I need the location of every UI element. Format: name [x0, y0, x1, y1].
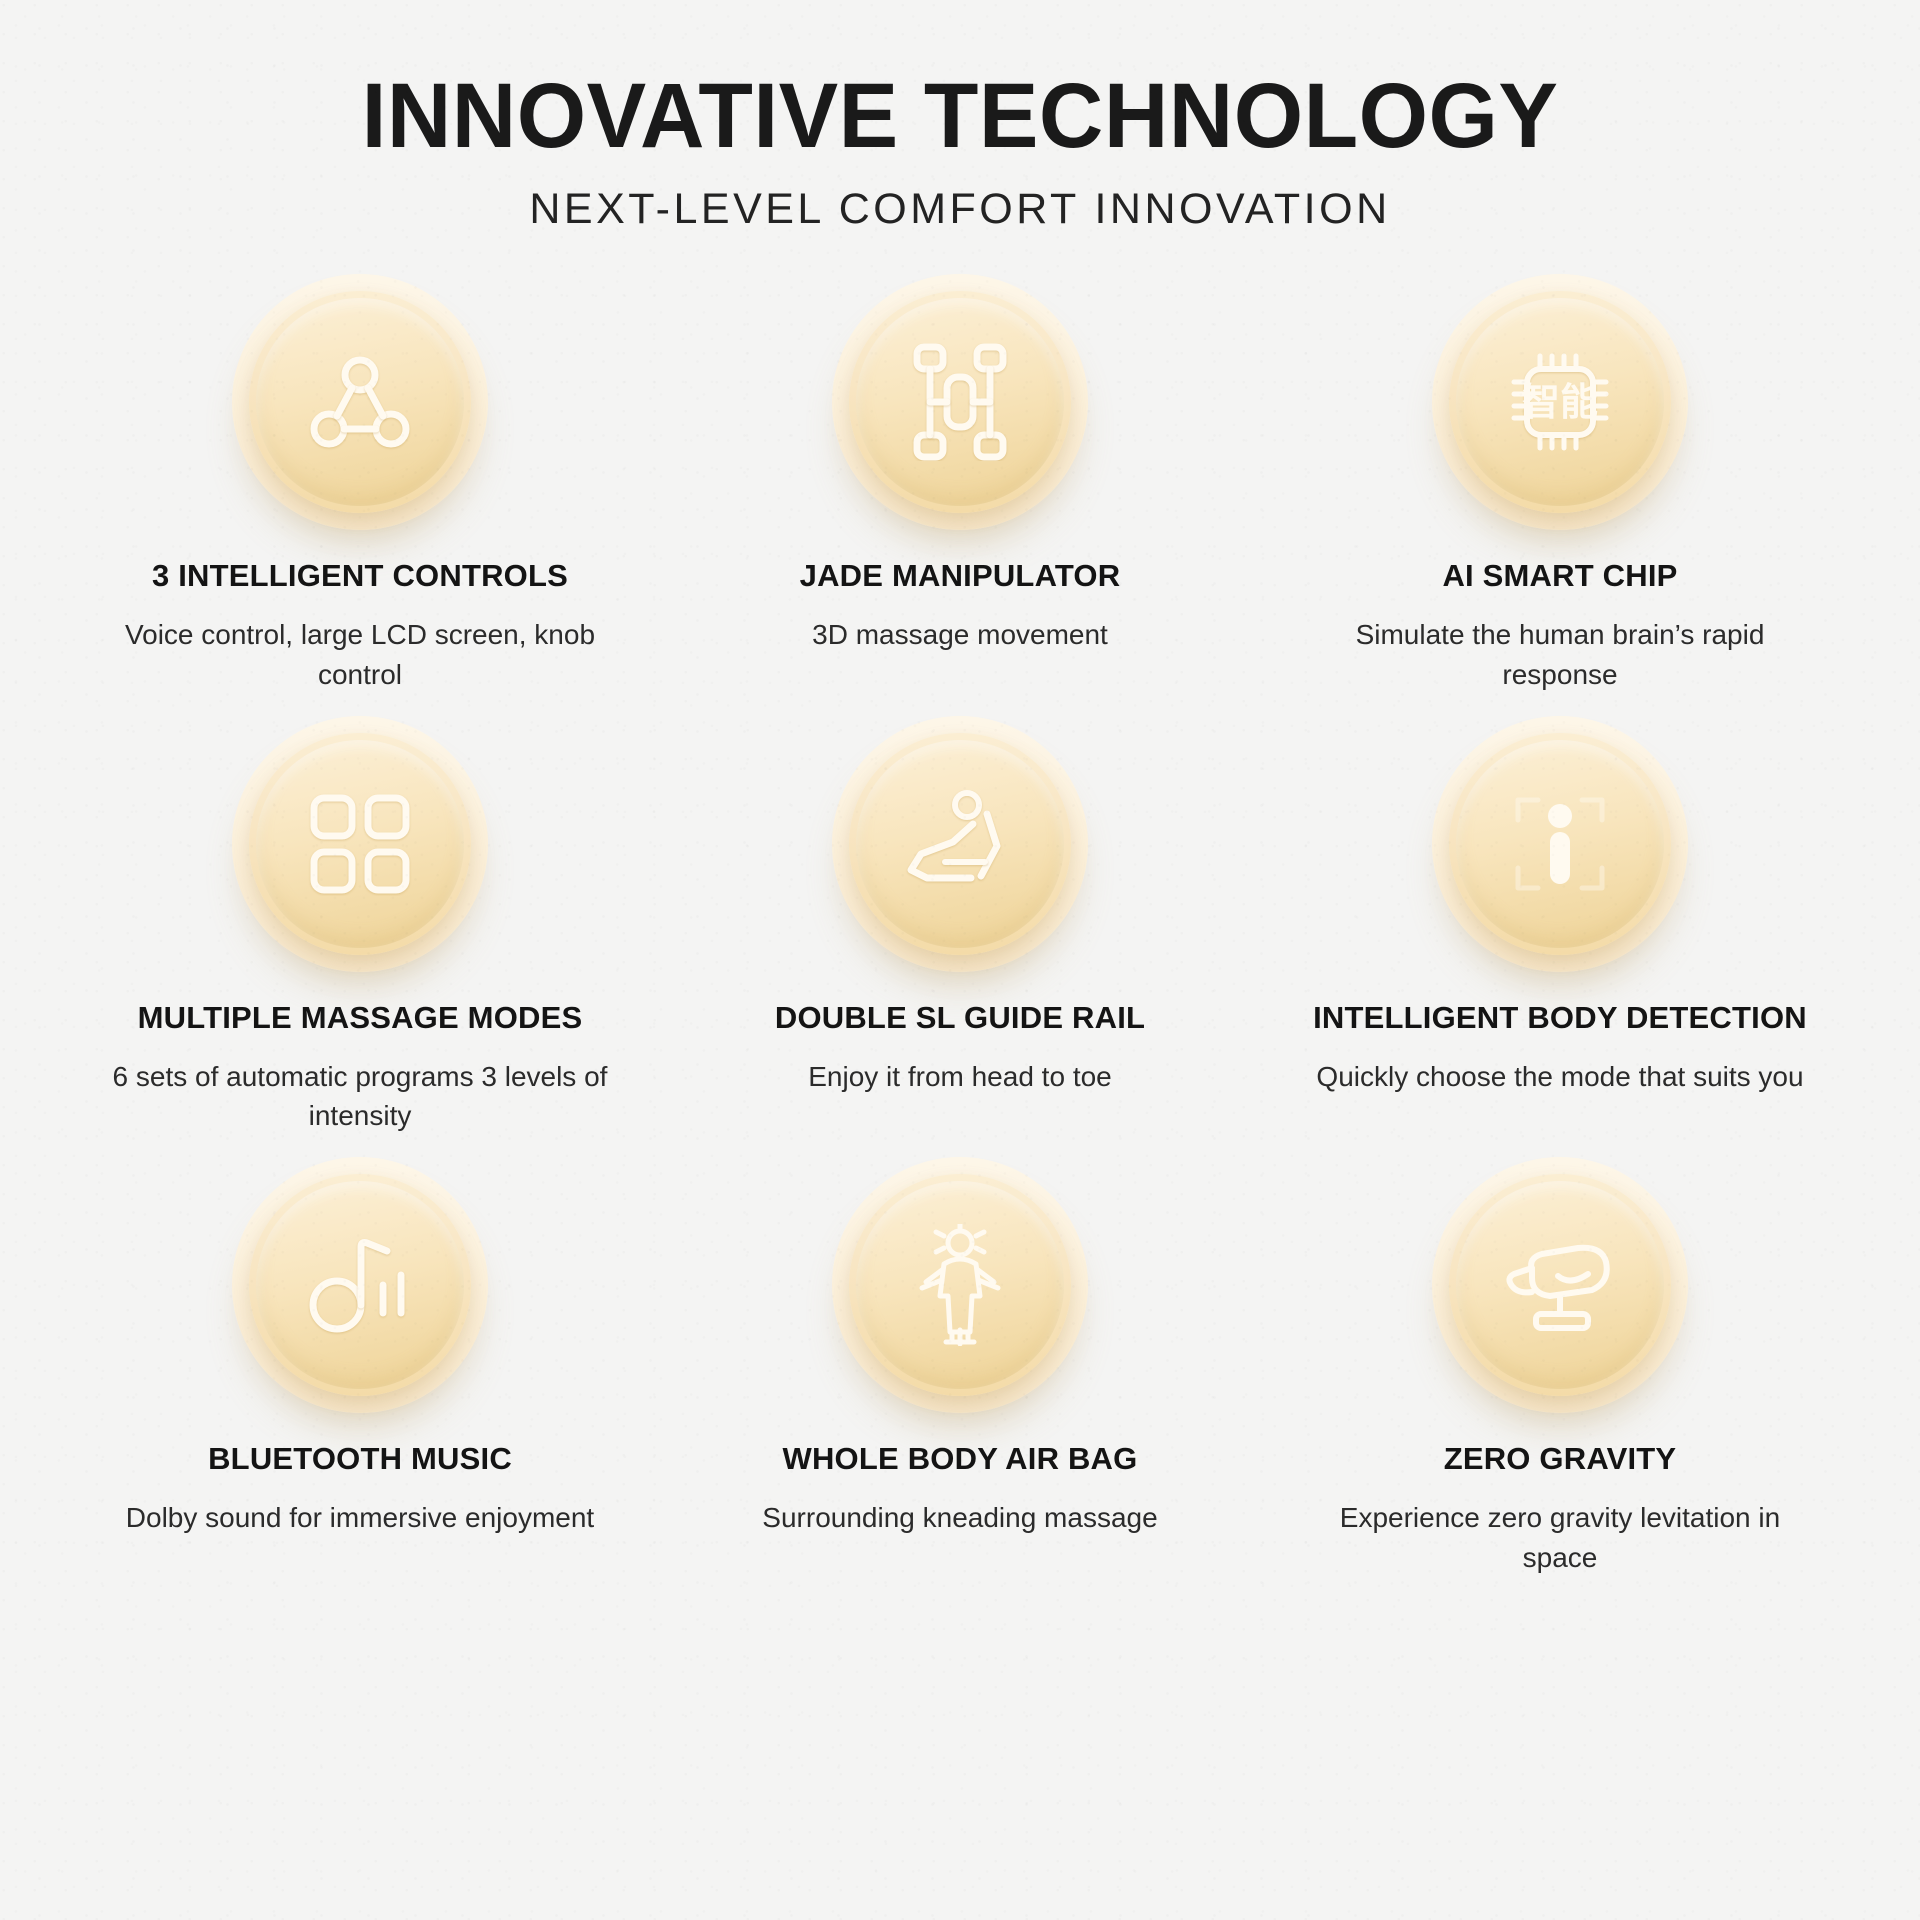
feature-badge: [249, 291, 471, 513]
feature-caption: 3 INTELLIGENT CONTROLS: [152, 559, 568, 593]
body-scan-icon: [1502, 786, 1618, 902]
feature-description: Dolby sound for immersive enjoyment: [126, 1498, 594, 1538]
feature-caption: BLUETOOTH MUSIC: [208, 1442, 512, 1476]
feature-description: Simulate the human brain’s rapid respons…: [1300, 615, 1820, 695]
feature-card-ai-smart-chip: 智能 AI SMART CHIP Simulate the human brai…: [1260, 291, 1860, 695]
feature-card-zero-gravity: ZERO GRAVITY Experience zero gravity lev…: [1260, 1174, 1860, 1578]
network-triangle-icon: [305, 347, 415, 457]
feature-caption: DOUBLE SL GUIDE RAIL: [775, 1001, 1145, 1035]
feature-badge: [249, 733, 471, 955]
feature-card-massage-modes: MULTIPLE MASSAGE MODES 6 sets of automat…: [60, 733, 660, 1137]
feature-caption: MULTIPLE MASSAGE MODES: [138, 1001, 583, 1035]
page-title: INNOVATIVE TECHNOLOGY: [29, 70, 1891, 162]
reclining-chair-icon: [901, 790, 1019, 898]
feature-badge: [1449, 1174, 1671, 1396]
music-note-icon: [307, 1233, 413, 1337]
page-header: INNOVATIVE TECHNOLOGY NEXT-LEVEL COMFORT…: [0, 0, 1920, 231]
feature-description: Voice control, large LCD screen, knob co…: [100, 615, 620, 695]
infographic-page: INNOVATIVE TECHNOLOGY NEXT-LEVEL COMFORT…: [0, 0, 1920, 1920]
feature-card-sl-guide-rail: DOUBLE SL GUIDE RAIL Enjoy it from head …: [660, 733, 1260, 1137]
feature-caption: ZERO GRAVITY: [1444, 1442, 1677, 1476]
feature-grid: 3 INTELLIGENT CONTROLS Voice control, la…: [0, 291, 1920, 1578]
feature-card-jade-manipulator: JADE MANIPULATOR 3D massage movement: [660, 291, 1260, 695]
feature-badge: [849, 1174, 1071, 1396]
smart-chip-icon: 智能: [1502, 344, 1618, 460]
massage-mechanism-icon: [905, 343, 1015, 461]
feature-badge: [1449, 733, 1671, 955]
feature-card-bluetooth-music: BLUETOOTH MUSIC Dolby sound for immersiv…: [60, 1174, 660, 1578]
feature-description: Quickly choose the mode that suits you: [1316, 1057, 1803, 1097]
feature-description: 3D massage movement: [812, 615, 1108, 655]
feature-badge: [849, 291, 1071, 513]
page-subtitle: NEXT-LEVEL COMFORT INNOVATION: [0, 188, 1920, 231]
zero-gravity-chair-icon: [1498, 1230, 1622, 1340]
feature-badge: 智能: [1449, 291, 1671, 513]
feature-badge: [849, 733, 1071, 955]
feature-description: Experience zero gravity levitation in sp…: [1300, 1498, 1820, 1578]
feature-description: 6 sets of automatic programs 3 levels of…: [100, 1057, 620, 1137]
feature-caption: WHOLE BODY AIR BAG: [783, 1442, 1138, 1476]
chip-label: 智能: [1522, 380, 1598, 424]
feature-caption: JADE MANIPULATOR: [800, 559, 1121, 593]
grid-squares-icon: [308, 792, 412, 896]
feature-description: Surrounding kneading massage: [762, 1498, 1157, 1538]
feature-caption: AI SMART CHIP: [1442, 559, 1677, 593]
feature-badge: [249, 1174, 471, 1396]
feature-caption: INTELLIGENT BODY DETECTION: [1313, 1001, 1807, 1035]
feature-card-air-bag: WHOLE BODY AIR BAG Surrounding kneading …: [660, 1174, 1260, 1578]
feature-card-intelligent-controls: 3 INTELLIGENT CONTROLS Voice control, la…: [60, 291, 660, 695]
airbag-body-icon: [904, 1224, 1016, 1346]
feature-description: Enjoy it from head to toe: [808, 1057, 1112, 1097]
feature-card-body-detection: INTELLIGENT BODY DETECTION Quickly choos…: [1260, 733, 1860, 1137]
